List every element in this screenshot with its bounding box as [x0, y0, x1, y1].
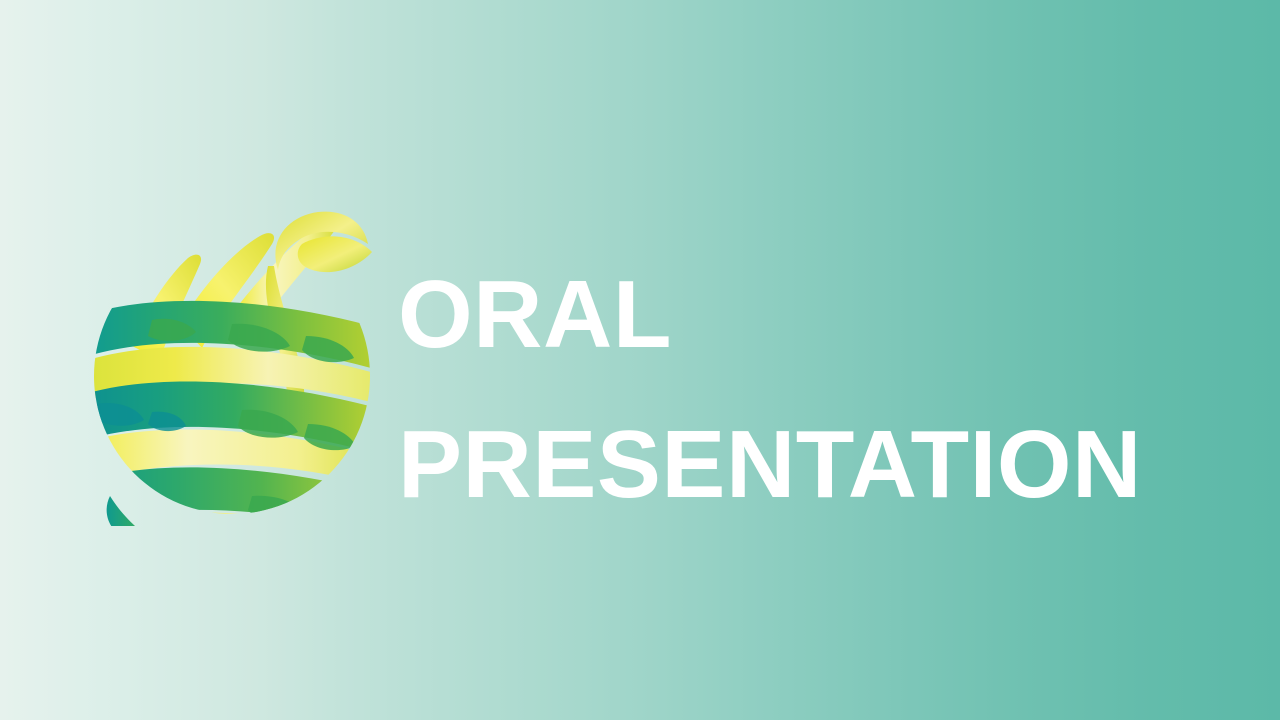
logo-band-light-3: [92, 512, 382, 526]
slide-title: ORAL PRESENTATION: [398, 240, 1198, 540]
page-title-line-2: PRESENTATION: [398, 390, 1198, 540]
globe-ribbon-logo: [92, 196, 382, 526]
logo-band-3: [92, 467, 382, 526]
page-title-line-1: ORAL: [398, 240, 1198, 390]
logo-leaf: [298, 236, 372, 272]
presentation-title-slide: ORAL PRESENTATION: [0, 0, 1280, 720]
